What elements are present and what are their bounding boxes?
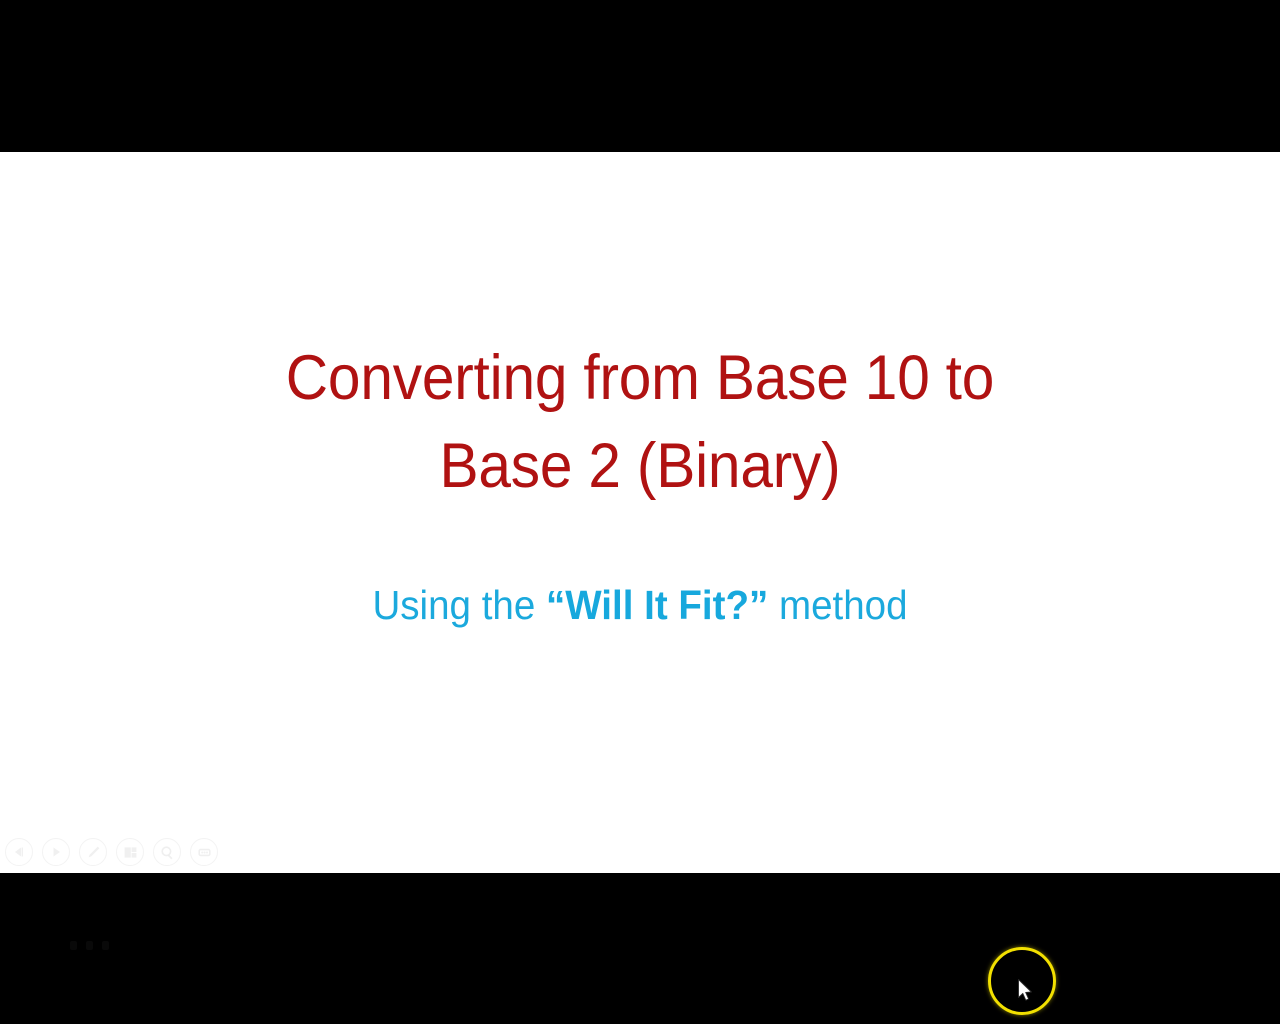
slide-title: Converting from Base 10 to Base 2 (Binar… [175, 334, 1105, 510]
footer-mark [86, 941, 93, 950]
slide-subtitle: Using the “Will It Fit?” method [170, 579, 1110, 631]
previous-slide-button[interactable] [5, 838, 33, 866]
pen-annotate-button[interactable] [79, 838, 107, 866]
subtitle-emphasis-text: “Will It Fit?” [546, 582, 768, 628]
more-options-button[interactable] [190, 838, 218, 866]
zoom-slide-button[interactable] [153, 838, 181, 866]
magnifier-icon [160, 845, 175, 860]
footer-mark [70, 941, 77, 950]
next-slide-button[interactable] [42, 838, 70, 866]
arrow-pointer-icon [1018, 979, 1036, 1005]
slideshow-toolbar[interactable] [5, 838, 218, 866]
subtitle-lead-text: Using the [372, 582, 546, 628]
presentation-viewer[interactable]: Converting from Base 10 to Base 2 (Binar… [0, 0, 1280, 1024]
footer-marks [70, 941, 109, 950]
pen-icon [86, 845, 101, 860]
letterbox-bottom [0, 873, 1280, 1024]
more-options-icon [197, 845, 212, 860]
previous-icon [12, 845, 26, 859]
letterbox-top [0, 0, 1280, 152]
slide-overview-button[interactable] [116, 838, 144, 866]
subtitle-trail-text: method [768, 582, 907, 628]
next-icon [49, 845, 63, 859]
slides-grid-icon [123, 845, 138, 860]
footer-mark [102, 941, 109, 950]
slide-canvas[interactable]: Converting from Base 10 to Base 2 (Binar… [0, 152, 1280, 873]
